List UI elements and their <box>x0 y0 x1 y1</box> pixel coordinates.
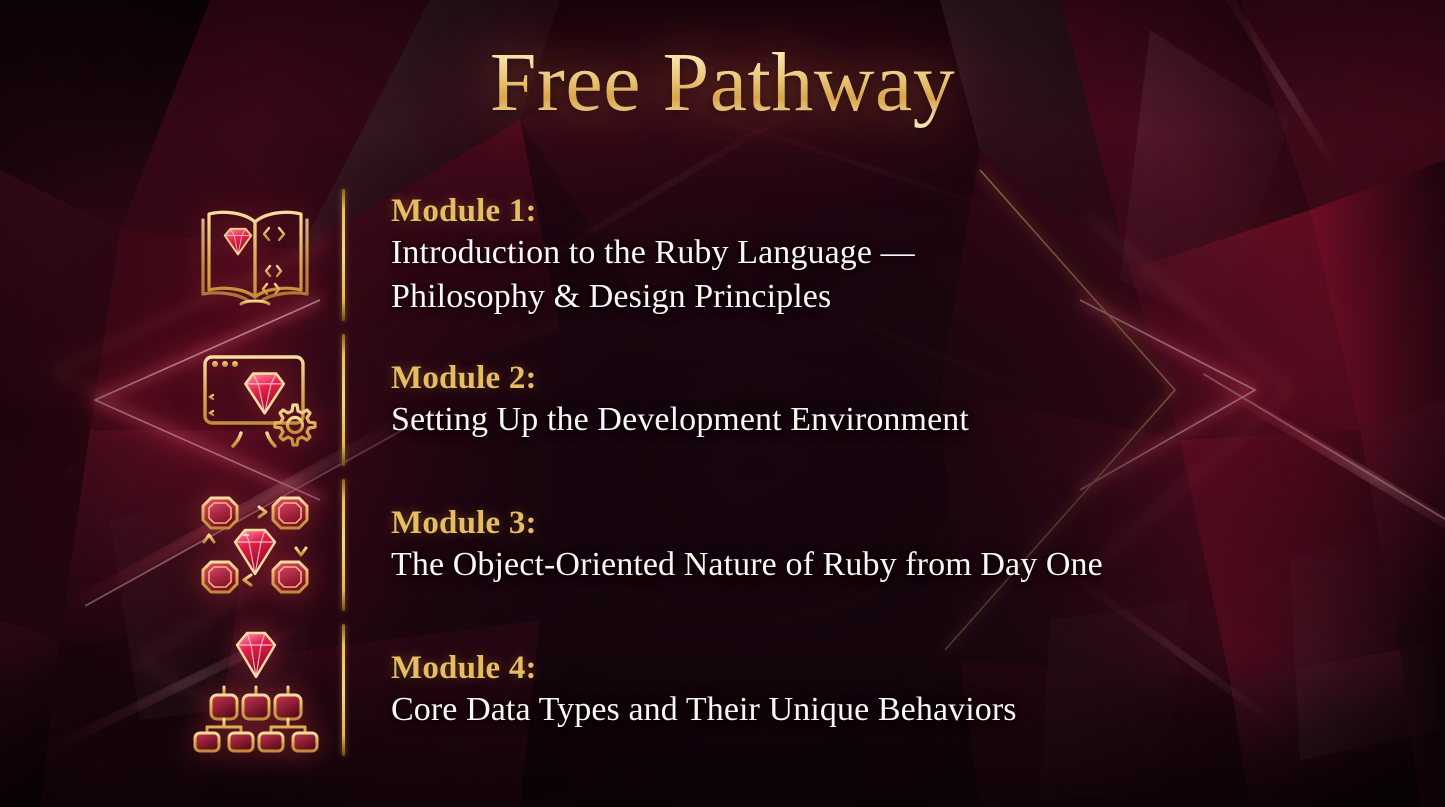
page-title: Free Pathway <box>0 38 1445 129</box>
module-divider <box>342 189 345 321</box>
ruby-hierarchy-tree-icon <box>190 625 320 755</box>
module-title: Core Data Types and Their Unique Behavio… <box>391 688 1420 732</box>
module-text: Module 2: Setting Up the Development Env… <box>391 357 1420 442</box>
module-divider <box>342 479 345 611</box>
open-book-with-ruby-and-code-icon <box>190 190 320 320</box>
module-title: Setting Up the Development Environment <box>391 398 1420 442</box>
module-row[interactable]: Module 3: The Object-Oriented Nature of … <box>190 472 1420 617</box>
module-label: Module 2: <box>391 359 1420 398</box>
slide-root: Free Pathway <box>0 0 1445 807</box>
module-title: The Object-Oriented Nature of Ruby from … <box>391 543 1420 587</box>
module-row[interactable]: Module 1: Introduction to the Ruby Langu… <box>190 182 1420 327</box>
module-row[interactable]: Module 2: Setting Up the Development Env… <box>190 327 1420 472</box>
module-label: Module 1: <box>391 192 1420 231</box>
ruby-surrounded-by-gems-cycle-icon <box>190 480 320 610</box>
module-title: Introduction to the Ruby Language — Phil… <box>391 231 1420 319</box>
module-text: Module 4: Core Data Types and Their Uniq… <box>391 647 1420 732</box>
module-divider <box>342 624 345 756</box>
module-divider <box>342 334 345 466</box>
module-label: Module 3: <box>391 504 1420 543</box>
module-row[interactable]: Module 4: Core Data Types and Their Uniq… <box>190 617 1420 762</box>
module-list: Module 1: Introduction to the Ruby Langu… <box>190 182 1420 762</box>
module-text: Module 3: The Object-Oriented Nature of … <box>391 502 1420 587</box>
module-text: Module 1: Introduction to the Ruby Langu… <box>391 190 1420 319</box>
monitor-with-ruby-and-gear-icon <box>190 335 320 465</box>
module-label: Module 4: <box>391 649 1420 688</box>
